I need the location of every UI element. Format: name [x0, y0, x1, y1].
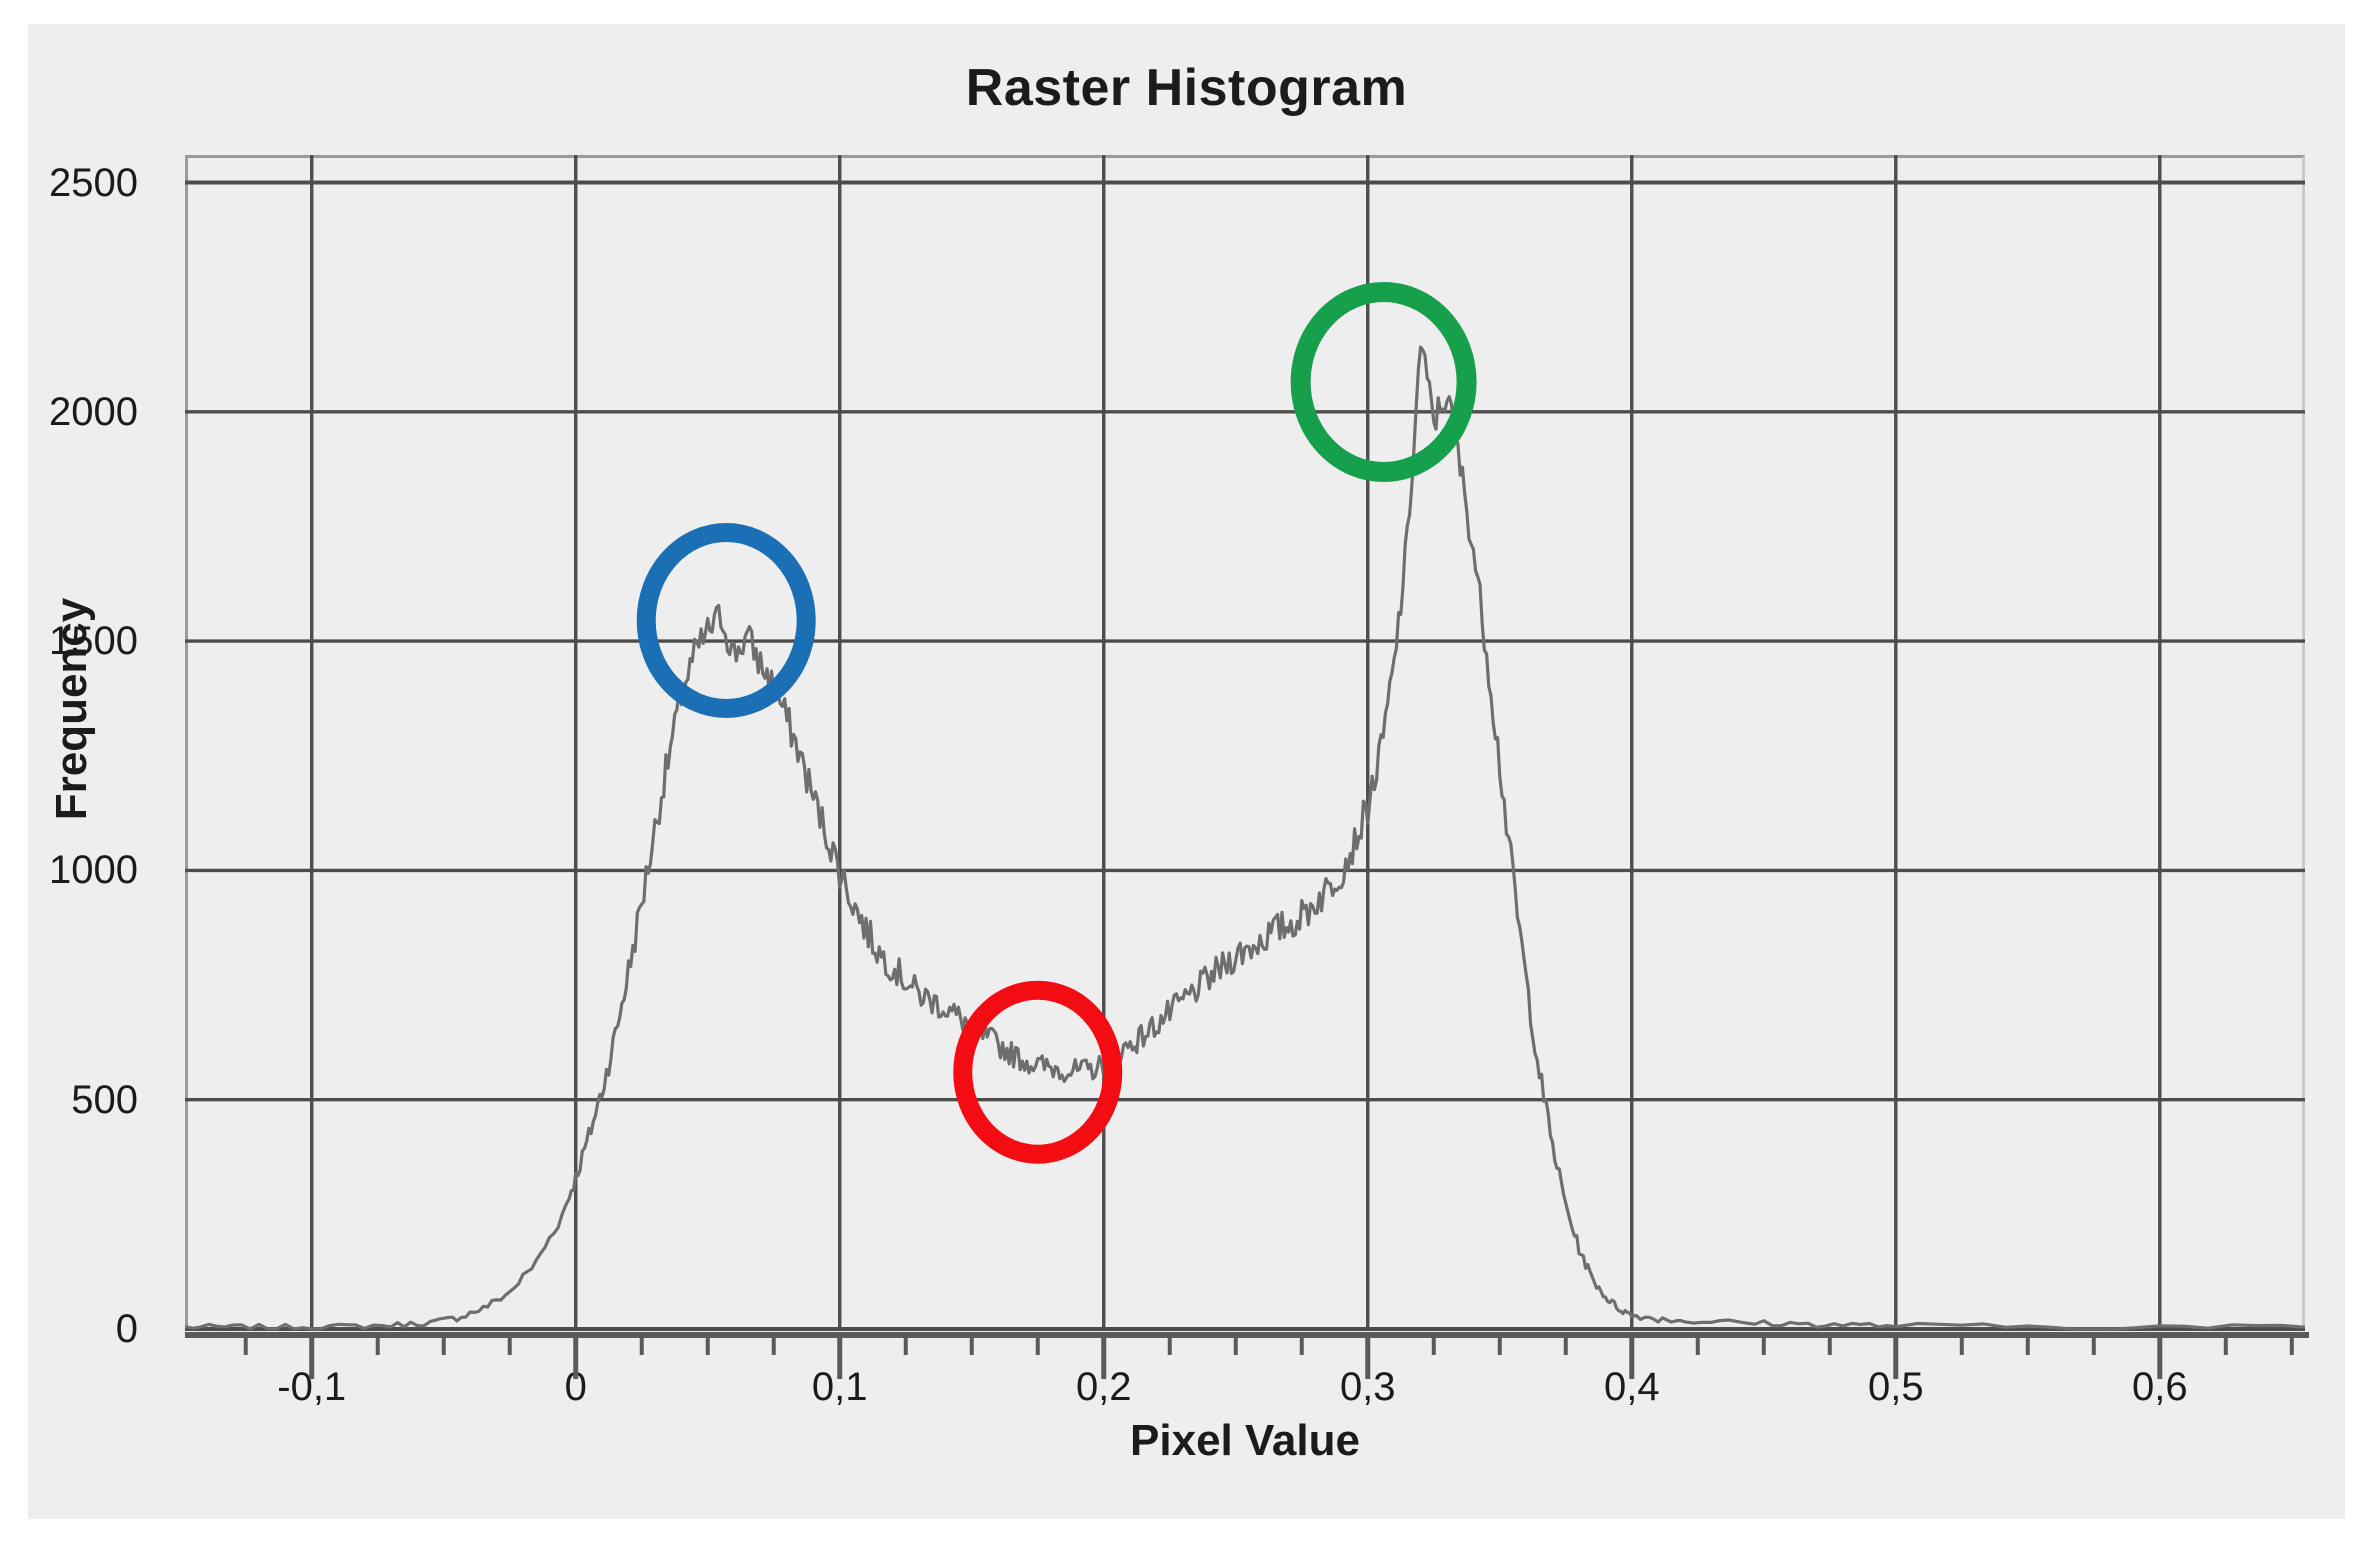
y-tick-label: 0 [0, 1307, 138, 1352]
blue-circle [646, 532, 806, 708]
y-tick-label: 500 [0, 1078, 138, 1123]
gridlines [185, 155, 2305, 1329]
chart-screenshot: Raster Histogram Frequency Pixel Value 0… [0, 0, 2362, 1556]
x-axis-ruler [185, 1329, 2309, 1385]
y-tick-label: 2500 [0, 161, 138, 206]
histogram-curve [185, 347, 2305, 1329]
annotation-circles [646, 292, 1466, 1154]
chart-title: Raster Histogram [28, 58, 2345, 118]
y-tick-label: 1000 [0, 848, 138, 893]
x-axis-label: Pixel Value [185, 1416, 2305, 1466]
y-tick-label: 2000 [0, 390, 138, 435]
y-axis-tick-labels: 05001000150020002500 [28, 24, 138, 1424]
chart-panel: Raster Histogram Frequency Pixel Value 0… [28, 24, 2345, 1519]
green-circle [1301, 292, 1467, 472]
plot-canvas [185, 155, 2309, 1405]
y-tick-label: 1500 [0, 619, 138, 664]
